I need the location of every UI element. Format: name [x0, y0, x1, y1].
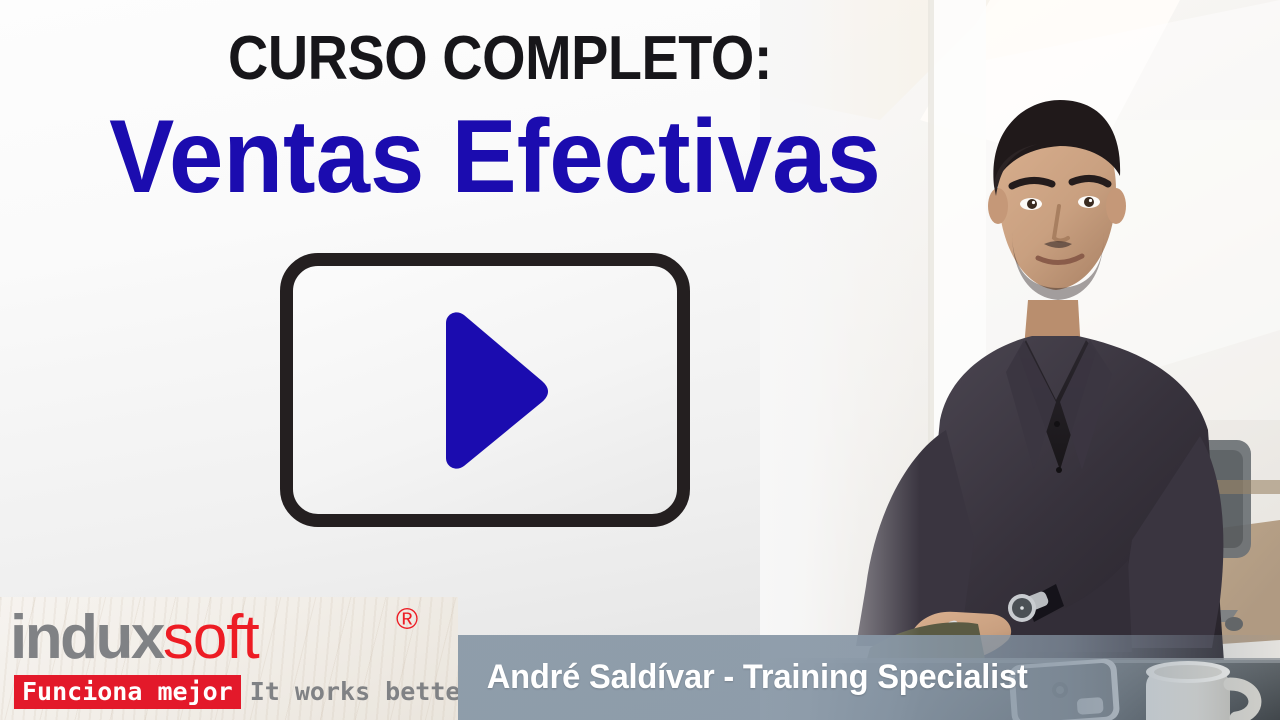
slide-canvas: CURSO COMPLETO: Ventas Efectivas induxso… [0, 0, 1280, 720]
presenter-name-banner: André Saldívar - Training Specialist [458, 635, 1280, 720]
registered-trademark-icon: ® [396, 605, 418, 635]
logo-tagline: Funciona mejorIt works better [14, 675, 458, 709]
logo-word-indux: indux [10, 603, 163, 672]
logo-tagline-en: It works better [241, 679, 458, 704]
brand-logo: induxsoft ® Funciona mejorIt works bette… [0, 597, 458, 720]
page-title: Ventas Efectivas [30, 104, 961, 210]
kicker-text: CURSO COMPLETO: [50, 26, 950, 91]
play-triangle-icon [432, 311, 550, 469]
logo-tagline-es: Funciona mejor [14, 675, 241, 709]
play-button[interactable] [280, 253, 690, 527]
logo-word-soft: soft [163, 603, 259, 672]
presenter-name-label: André Saldívar - Training Specialist [458, 658, 1028, 697]
logo-wordmark: induxsoft [10, 607, 259, 669]
